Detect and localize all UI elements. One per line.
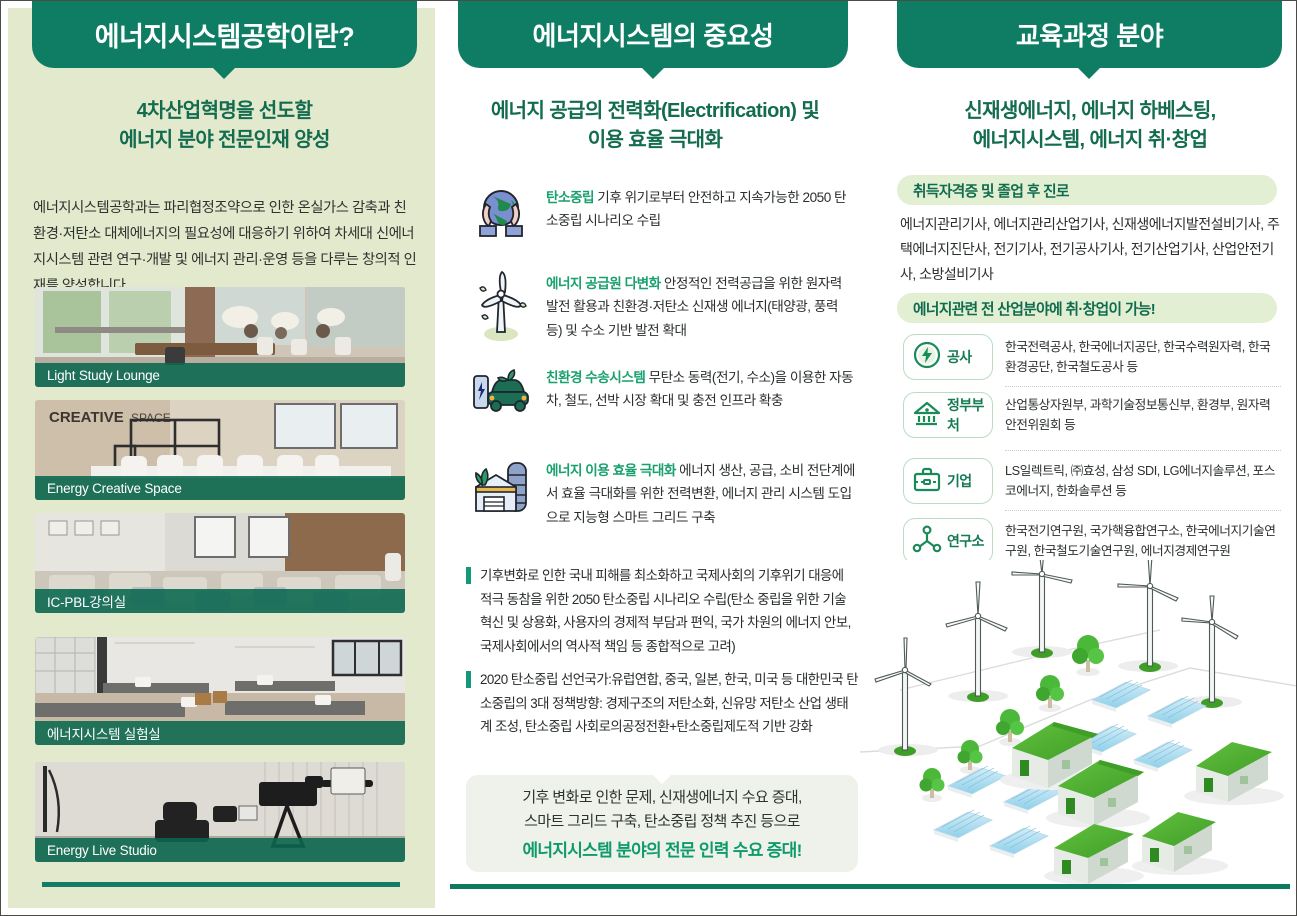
photo-ic-pbl-classroom: IC-PBL강의실: [35, 513, 405, 613]
employment-description: LS일렉트릭, ㈜효성, 삼성 SDI, LG에너지솔루션, 포스코에너지, 한…: [1005, 458, 1281, 502]
quote-climate-scenario: 기후변화로 인한 국내 피해를 최소화하고 국제사회의 기후위기 대응에 적극 …: [466, 564, 858, 658]
tab-what-is-energy-system-engineering[interactable]: 에너지시스템공학이란?: [32, 0, 417, 68]
feature-energy-efficiency-maximization: 에너지 이용 효율 극대화 에너지 생산, 공급, 소비 전단계에서 효율 극대…: [470, 455, 855, 529]
feature-lead: 친환경 수송시스템: [546, 370, 645, 385]
illustration-svg: [860, 560, 1297, 890]
employment-divider: [1005, 510, 1281, 511]
bottom-rule: [450, 884, 1290, 889]
research-network-icon: [911, 523, 943, 560]
feature-text: 에너지 이용 효율 극대화 에너지 생산, 공급, 소비 전단계에서 효율 극대…: [546, 455, 855, 529]
tab-curriculum-fields[interactable]: 교육과정 분야: [897, 0, 1282, 68]
feature-energy-source-diversification: 에너지 공급원 다변화 안정적인 전력공급을 위한 원자력 발전 활용과 친환경…: [470, 268, 855, 347]
tab-title-middle: 에너지시스템의 중요성: [533, 16, 774, 53]
photo-energy-creative-space: CREATIVE SPACE Energy Creative Space: [35, 400, 405, 500]
employment-chip[interactable]: 기업: [903, 458, 993, 504]
tab-notch-left: [213, 68, 235, 79]
feature-text: 친환경 수송시스템 무탄소 동력(전기, 수소)을 이용한 자동차, 철도, 선…: [546, 362, 855, 413]
conclusion-line1: 기후 변화로 인한 문제, 신재생에너지 수요 증대,: [522, 787, 801, 810]
employment-row-government: 정부부처 산업통상자원부, 과학기술정보통신부, 환경부, 원자력안전위원회 등: [903, 392, 1281, 438]
conclusion-line3: 에너지시스템 분야의 전문 인력 수요 증대!: [522, 836, 801, 861]
tab-title-left: 에너지시스템공학이란?: [95, 15, 354, 54]
employment-divider: [1005, 386, 1281, 387]
tab-title-right: 교육과정 분야: [1016, 16, 1163, 53]
feature-lead: 에너지 이용 효율 극대화: [546, 463, 676, 478]
left-column-bottom-rule: [42, 882, 400, 887]
employment-divider: [1005, 450, 1281, 451]
photo-caption: Energy Live Studio: [35, 838, 405, 862]
tab-notch-right: [1078, 68, 1100, 79]
svg-text:CREATIVE: CREATIVE: [49, 409, 124, 426]
photo-energy-system-lab: 에너지시스템 실험실: [35, 637, 405, 745]
subtitle-left-line1: 4차산업혁명을 선도할: [32, 97, 417, 126]
subtitle-left: 4차산업혁명을 선도할 에너지 분야 전문인재 양성: [32, 97, 417, 155]
quote-carbon-neutral-declaration: 2020 탄소중립 선언국가:유럽연합, 중국, 일본, 한국, 미국 등 대한…: [466, 668, 858, 739]
employment-row-research-institutes: 연구소 한국전기연구원, 국가핵융합연구소, 한국에너지기술연구원, 한국철도기…: [903, 518, 1281, 564]
employment-pill: 에너지관련 전 산업분야에 취·창업이 가능!: [897, 293, 1277, 323]
employment-chip[interactable]: 공사: [903, 334, 993, 380]
employment-chip[interactable]: 연구소: [903, 518, 993, 564]
conclusion-line2: 스마트 그리드 구축, 탄소중립 정책 추진 등으로: [524, 811, 800, 834]
employment-pill-label: 에너지관련 전 산업분야에 취·창업이 가능!: [913, 298, 1155, 319]
subtitle-right-line1: 신재생에너지, 에너지 하베스팅,: [895, 97, 1285, 126]
subtitle-right-line2: 에너지시스템, 에너지 취·창업: [895, 126, 1285, 155]
employment-chip-label: 공사: [947, 347, 972, 367]
feature-lead: 탄소중립: [546, 190, 594, 205]
employment-description: 한국전력공사, 한국에너지공단, 한국수력원자력, 한국환경공단, 한국철도공사…: [1005, 334, 1281, 378]
earth-in-hands-icon: [470, 182, 532, 249]
employment-description: 산업통상자원부, 과학기술정보통신부, 환경부, 원자력안전위원회 등: [1005, 392, 1281, 436]
feature-text: 탄소중립 기후 위기로부터 안전하고 지속가능한 2050 탄소중립 시나리오 …: [546, 182, 855, 233]
photo-caption: Energy Creative Space: [35, 476, 405, 500]
photo-caption: IC-PBL강의실: [35, 589, 405, 613]
employment-chip-label: 정부부처: [947, 395, 992, 435]
smart-factory-icon: [470, 455, 532, 522]
tab-notch-middle: [642, 68, 664, 79]
subtitle-right: 신재생에너지, 에너지 하베스팅, 에너지시스템, 에너지 취·창업: [895, 97, 1285, 155]
feature-eco-transport-system: 친환경 수송시스템 무탄소 동력(전기, 수소)을 이용한 자동차, 철도, 선…: [470, 362, 855, 425]
photo-energy-live-studio: Energy Live Studio: [35, 762, 405, 862]
employment-chip-label: 연구소: [947, 531, 984, 551]
subtitle-middle: 에너지 공급의 전력화(Electrification) 및 이용 효율 극대화: [455, 97, 855, 155]
photo-light-study-lounge: Light Study Lounge: [35, 287, 405, 387]
subtitle-middle-line2: 이용 효율 극대화: [455, 126, 855, 155]
conclusion-box: 기후 변화로 인한 문제, 신재생에너지 수요 증대, 스마트 그리드 구축, …: [466, 775, 858, 872]
brochure-page: 에너지시스템공학이란? 에너지시스템의 중요성 교육과정 분야 4차산업혁명을 …: [0, 0, 1297, 916]
certifications-text: 에너지관리기사, 에너지관리산업기사, 신재생에너지발전설비기사, 주택에너지진…: [900, 212, 1280, 287]
department-intro-paragraph: 에너지시스템공학과는 파리협정조약으로 인한 온실가스 감축과 친환경·저탄소 …: [33, 195, 418, 299]
photo-caption: 에너지시스템 실험실: [35, 721, 405, 745]
employment-chip-label: 기업: [947, 471, 972, 491]
tab-importance-of-energy-systems[interactable]: 에너지시스템의 중요성: [458, 0, 848, 68]
certifications-pill-label: 취득자격증 및 졸업 후 진로: [913, 180, 1069, 201]
wind-turbine-icon: [470, 268, 532, 347]
employment-row-companies: 기업 LS일렉트릭, ㈜효성, 삼성 SDI, LG에너지솔루션, 포스코에너지…: [903, 458, 1281, 504]
certifications-pill: 취득자격증 및 졸업 후 진로: [897, 175, 1277, 205]
renewable-energy-village-illustration: [860, 560, 1297, 890]
briefcase-icon: [911, 463, 943, 500]
employment-row-public-corporations: 공사 한국전력공사, 한국에너지공단, 한국수력원자력, 한국환경공단, 한국철…: [903, 334, 1281, 380]
government-building-icon: [911, 397, 943, 434]
photo-caption: Light Study Lounge: [35, 363, 405, 387]
feature-lead: 에너지 공급원 다변화: [546, 276, 661, 291]
svg-text:SPACE: SPACE: [131, 411, 171, 425]
employment-description: 한국전기연구원, 국가핵융합연구소, 한국에너지기술연구원, 한국철도기술연구원…: [1005, 518, 1281, 562]
electric-car-charging-icon: [470, 362, 532, 425]
employment-chip[interactable]: 정부부처: [903, 392, 993, 438]
subtitle-left-line2: 에너지 분야 전문인재 양성: [32, 126, 417, 155]
subtitle-middle-line1: 에너지 공급의 전력화(Electrification) 및: [455, 97, 855, 126]
conclusion-notch: [652, 774, 672, 784]
feature-carbon-neutral: 탄소중립 기후 위기로부터 안전하고 지속가능한 2050 탄소중립 시나리오 …: [470, 182, 855, 249]
energy-bolt-circle-icon: [911, 339, 943, 376]
feature-text: 에너지 공급원 다변화 안정적인 전력공급을 위한 원자력 발전 활용과 친환경…: [546, 268, 855, 342]
